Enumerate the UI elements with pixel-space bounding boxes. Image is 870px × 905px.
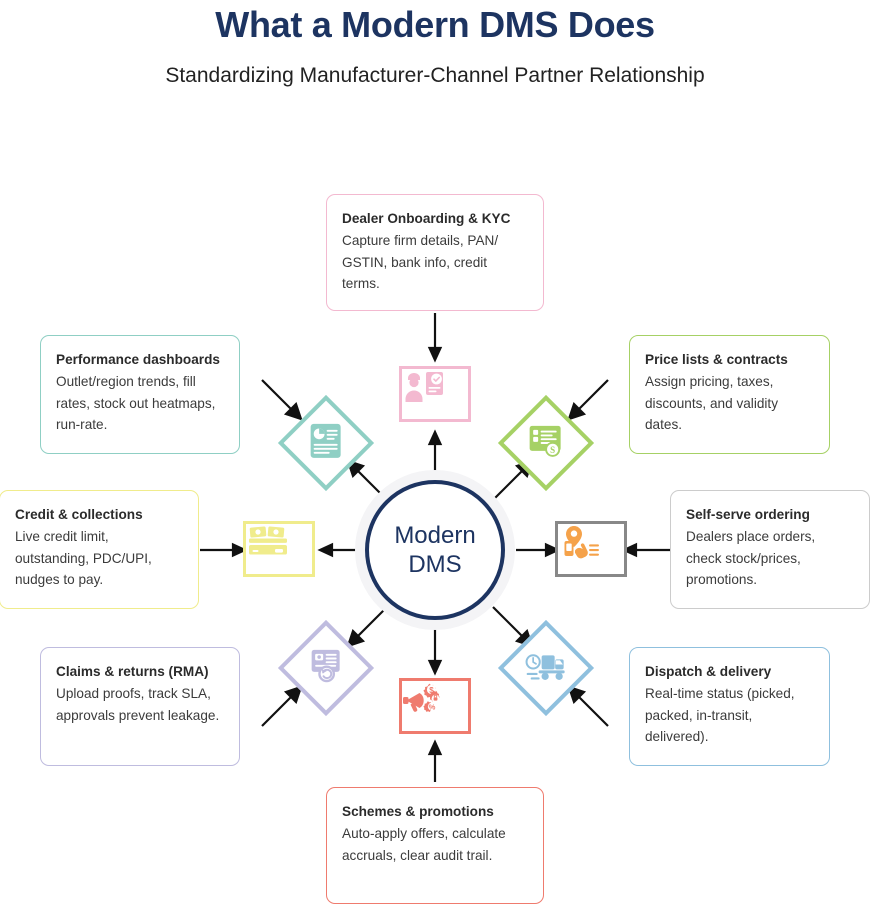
badge-schemes-promotions[interactable]: $ % <box>399 678 471 734</box>
arrow-hub-to-right <box>516 540 558 560</box>
card-title: Schemes & promotions <box>342 801 528 822</box>
card-performance-dashboards[interactable]: Performance dashboards Outlet/region tre… <box>40 335 240 454</box>
card-title: Claims & returns (RMA) <box>56 661 224 682</box>
page-title: What a Modern DMS Does <box>0 4 870 46</box>
badge-square-frame <box>243 521 315 577</box>
arrow-top-down <box>425 313 445 361</box>
card-title: Performance dashboards <box>56 349 224 370</box>
card-description: Outlet/region trends, fill rates, stock … <box>56 371 224 435</box>
badge-dispatch-delivery[interactable] <box>498 620 594 716</box>
card-dealer-onboarding[interactable]: Dealer Onboarding & KYC Capture firm det… <box>326 194 544 311</box>
page-subtitle: Standardizing Manufacturer-Channel Partn… <box>0 64 870 88</box>
card-description: Assign pricing, taxes, discounts, and va… <box>645 371 814 435</box>
card-description: Dealers place orders, check stock/prices… <box>686 526 854 590</box>
arrow-bottom-up-to-hub <box>425 432 445 472</box>
cash-card-icon <box>246 524 312 563</box>
badge-diamond-frame <box>498 620 594 716</box>
card-price-lists-contracts[interactable]: Price lists & contracts Assign pricing, … <box>629 335 830 454</box>
card-claims-returns[interactable]: Claims & returns (RMA) Upload proofs, tr… <box>40 647 240 766</box>
badge-credit-collections[interactable] <box>243 521 315 577</box>
badge-price-lists-contracts[interactable]: S <box>498 395 594 491</box>
badge-square-frame <box>555 521 627 577</box>
card-title: Self-serve ordering <box>686 504 854 525</box>
badge-self-serve-ordering[interactable] <box>555 521 627 577</box>
card-dispatch-delivery[interactable]: Dispatch & delivery Real-time status (pi… <box>629 647 830 766</box>
hub-label: Modern DMS <box>394 521 475 580</box>
mobile-order-icon <box>558 524 624 565</box>
badge-performance-dashboards[interactable] <box>278 395 374 491</box>
card-self-serve-ordering[interactable]: Self-serve ordering Dealers place orders… <box>670 490 870 609</box>
card-title: Dispatch & delivery <box>645 661 814 682</box>
card-description: Real-time status (picked, packed, in-tra… <box>645 683 814 747</box>
arrow-hub-down <box>425 628 445 674</box>
price-list-icon: S <box>526 421 566 466</box>
arrow-left-card-right <box>200 540 246 560</box>
badge-dealer-onboarding[interactable] <box>399 366 471 422</box>
badge-square-frame: $ % <box>399 678 471 734</box>
delivery-truck-icon <box>525 649 567 688</box>
card-description: Upload proofs, track SLA, approvals prev… <box>56 683 224 726</box>
badge-diamond-frame <box>278 620 374 716</box>
svg-text:S: S <box>550 445 555 455</box>
svg-text:%: % <box>429 703 436 712</box>
return-document-icon <box>306 646 346 691</box>
card-schemes-promotions[interactable]: Schemes & promotions Auto-apply offers, … <box>326 787 544 904</box>
card-credit-collections[interactable]: Credit & collections Live credit limit, … <box>0 490 199 609</box>
person-checklist-icon <box>402 369 468 408</box>
arrow-right-card-left <box>624 540 670 560</box>
badge-square-frame <box>399 366 471 422</box>
card-title: Dealer Onboarding & KYC <box>342 208 528 229</box>
diagram-canvas: What a Modern DMS Does Standardizing Man… <box>0 0 870 905</box>
analytics-report-icon <box>306 421 346 466</box>
arrow-bottom-card-up <box>425 742 445 782</box>
card-description: Live credit limit, outstanding, PDC/UPI,… <box>15 526 183 590</box>
card-title: Price lists & contracts <box>645 349 814 370</box>
card-description: Capture firm details, PAN/ GSTIN, bank i… <box>342 230 528 294</box>
badge-claims-returns[interactable] <box>278 620 374 716</box>
hub-circle[interactable]: Modern DMS <box>365 480 505 620</box>
card-description: Auto-apply offers, calculate accruals, c… <box>342 823 528 866</box>
badge-diamond-frame: S <box>498 395 594 491</box>
card-title: Credit & collections <box>15 504 183 525</box>
megaphone-promo-icon: $ % <box>402 681 468 722</box>
badge-diamond-frame <box>278 395 374 491</box>
